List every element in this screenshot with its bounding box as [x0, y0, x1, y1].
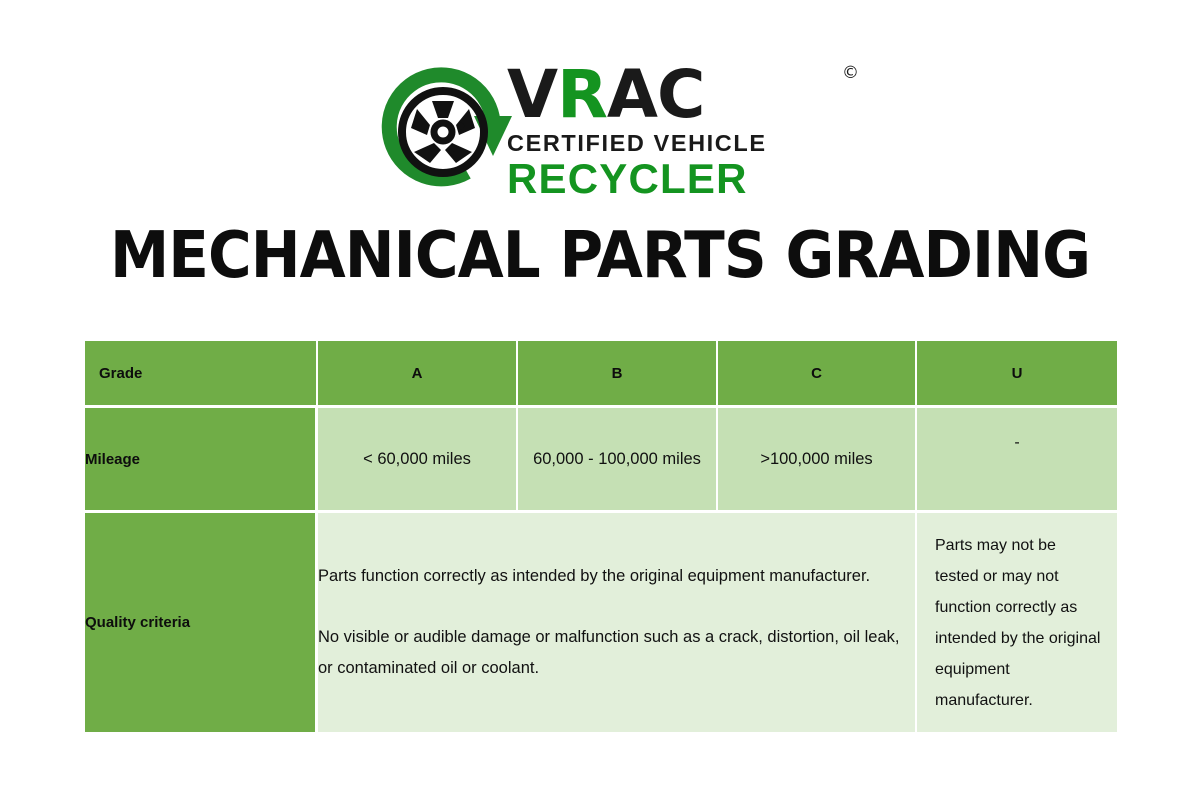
table-header-row: Grade A B C U	[85, 341, 1117, 405]
recycling-wheel-icon	[375, 60, 515, 200]
grading-poster: VRAC© CERTIFIED VEHICLE RECYCLER MECHANI…	[0, 0, 1200, 800]
header-cell-grade-u: U	[917, 341, 1117, 405]
row-label-mileage: Mileage	[85, 405, 318, 510]
quality-criteria-cell-u: Parts may not be tested or may not funct…	[917, 510, 1117, 732]
logo-letter-r: R	[557, 56, 607, 133]
header-cell-grade-a: A	[318, 341, 518, 405]
quality-criteria-paragraph-2: No visible or audible damage or malfunct…	[318, 622, 915, 684]
logo-tagline-recycler: RECYCLER	[507, 156, 837, 202]
mileage-cell-c: >100,000 miles	[718, 405, 917, 510]
logo-vrac-text: VRAC©	[507, 63, 837, 127]
mileage-cell-a: < 60,000 miles	[318, 405, 518, 510]
quality-criteria-cell-abc: Parts function correctly as intended by …	[318, 510, 917, 732]
page-title: MECHANICAL PARTS GRADING	[42, 222, 1158, 290]
mileage-cell-u: -	[917, 405, 1117, 510]
header-cell-grade: Grade	[85, 341, 318, 405]
logo-wordmark: VRAC© CERTIFIED VEHICLE RECYCLER	[507, 63, 837, 202]
header-cell-grade-c: C	[718, 341, 917, 405]
quality-criteria-paragraph-1: Parts function correctly as intended by …	[318, 561, 915, 592]
logo-letter-v: V	[507, 56, 557, 133]
copyright-icon: ©	[842, 65, 859, 82]
logo-letters-ac: AC	[607, 56, 705, 133]
mileage-cell-b: 60,000 - 100,000 miles	[518, 405, 718, 510]
vrac-logo: VRAC© CERTIFIED VEHICLE RECYCLER	[375, 55, 835, 205]
row-label-quality-criteria: Quality criteria	[85, 510, 318, 732]
table-row-quality-criteria: Quality criteria Parts function correctl…	[85, 510, 1117, 732]
header-cell-grade-b: B	[518, 341, 718, 405]
mechanical-parts-grading-table: Grade A B C U Mileage < 60,000 miles 60,…	[85, 341, 1117, 732]
table-row-mileage: Mileage < 60,000 miles 60,000 - 100,000 …	[85, 405, 1117, 510]
